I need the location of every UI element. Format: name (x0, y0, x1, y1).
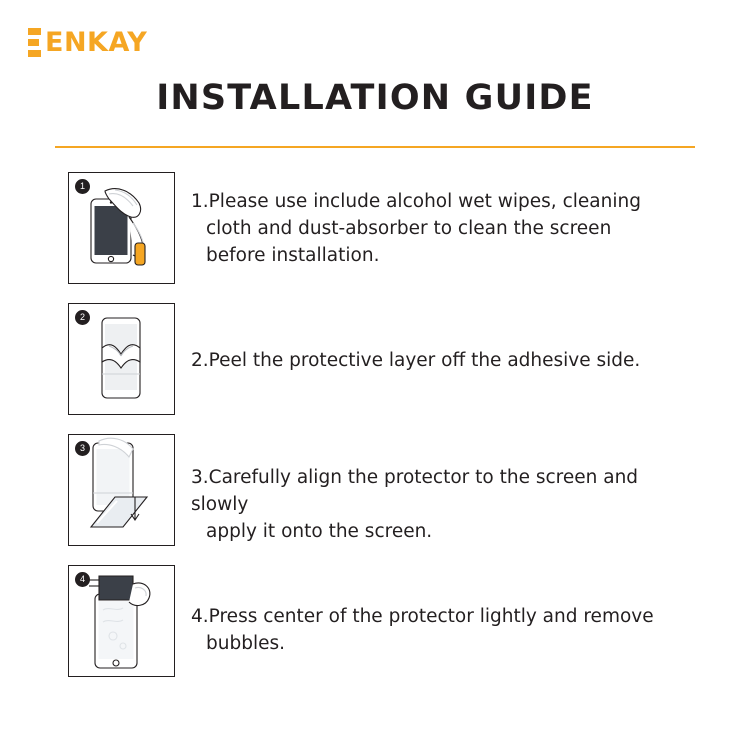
step-badge: 4 (75, 572, 90, 587)
align-protector-icon: 3 (68, 434, 175, 546)
list-item: 2 2.Peel the protective layer off the ad… (0, 303, 750, 415)
phone-with-wet-wipe-icon: 1 (68, 172, 175, 284)
title-divider (55, 146, 695, 148)
step-text: 2.Peel the protective layer off the adhe… (191, 303, 695, 374)
step-text: 4.Press center of the protector lightly … (191, 565, 695, 657)
three-bar-logo-icon (28, 28, 42, 58)
peel-protective-layer-icon: 2 (68, 303, 175, 415)
installation-guide-page: ENKAY INSTALLATION GUIDE 1 (0, 0, 750, 750)
list-item: 3 3.Carefully align the protector to the… (0, 434, 750, 546)
brand-logo: ENKAY (28, 26, 147, 60)
press-center-remove-bubbles-icon: 4 (68, 565, 175, 677)
brand-name: ENKAY (45, 28, 147, 58)
step-text: 3.Carefully align the protector to the s… (191, 434, 695, 545)
step-badge: 2 (75, 310, 90, 325)
list-item: 1 1.Please use include alcohol wet wipes… (0, 172, 750, 284)
step-text: 1.Please use include alcohol wet wipes, … (191, 172, 695, 269)
step-badge: 3 (75, 441, 90, 456)
steps-list: 1 1.Please use include alcohol wet wipes… (0, 172, 750, 696)
list-item: 4 4.Press center of the prot (0, 565, 750, 677)
step-badge: 1 (75, 179, 90, 194)
page-title: INSTALLATION GUIDE (0, 78, 750, 118)
